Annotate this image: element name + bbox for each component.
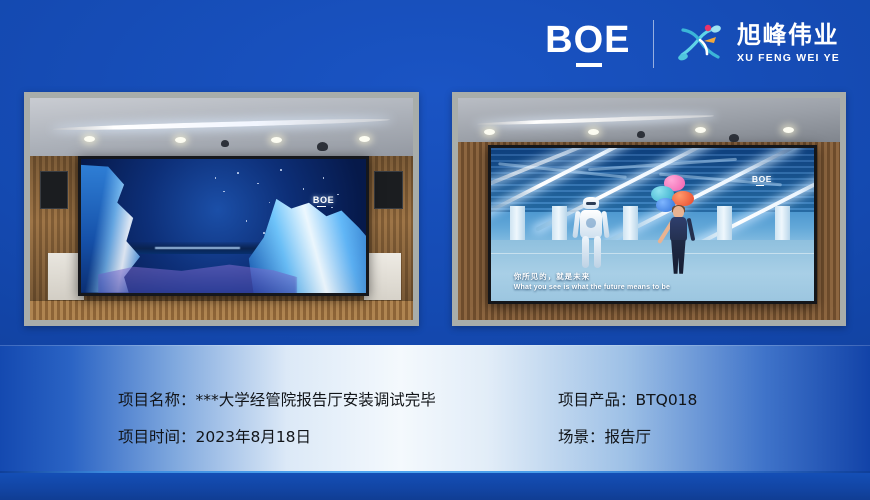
- screen-subtitle-en: What you see is what the future means to…: [514, 283, 814, 292]
- info-panel: 项目名称：***大学经管院报告厅安装调试完毕 项目产品：BTQ018 项目时间：…: [0, 345, 870, 471]
- xufeng-bird-icon: [674, 21, 726, 67]
- project-time-row: 项目时间：2023年8月18日: [118, 428, 558, 447]
- partner-logo: 旭峰伟业 XU FENG WEI YE: [674, 21, 840, 67]
- screen-girl-icon: [665, 206, 691, 274]
- spotlight-icon: [588, 129, 599, 135]
- vertical-divider-icon: [653, 20, 655, 68]
- wall-speaker-icon: [374, 171, 403, 209]
- poster-root: BOE 旭峰伟业 XU FENG WEI YE: [0, 0, 870, 500]
- scene-value: 报告厅: [605, 428, 652, 446]
- wall-speaker-icon: [40, 171, 69, 209]
- scene-label: 场景：: [558, 428, 605, 446]
- footer-strip: [0, 471, 870, 500]
- screen-pillar: [510, 206, 525, 240]
- screen-robot-icon: [575, 197, 607, 268]
- boe-wordmark-icon: BOE: [545, 21, 630, 59]
- spotlight-icon: [175, 137, 186, 143]
- project-product-row: 项目产品：BTQ018: [558, 391, 870, 410]
- screen-boe-watermark-icon: BOE: [313, 195, 334, 208]
- screen-subtitle: 你所见的，就是未来 What you see is what the futur…: [491, 268, 814, 296]
- led-screen-left: BOE: [78, 156, 369, 296]
- project-product-value: BTQ018: [636, 391, 698, 409]
- screen-pillar: [717, 206, 732, 240]
- spotlight-icon: [783, 127, 794, 133]
- screen-pillar: [775, 206, 790, 240]
- scene-row: 场景：报告厅: [558, 428, 870, 447]
- partner-logo-text: 旭峰伟业 XU FENG WEI YE: [737, 23, 840, 66]
- screen-pillar: [552, 206, 567, 240]
- ceiling-sensor-icon: [221, 140, 229, 147]
- auditorium-scene: BOE: [30, 98, 413, 320]
- screen-pillar: [623, 206, 638, 240]
- wall-skirting: [30, 300, 413, 320]
- spotlight-icon: [695, 127, 706, 133]
- boe-underline-icon: [576, 63, 602, 67]
- screen-warehouse: 你所见的，就是未来 What you see is what the futur…: [491, 148, 814, 302]
- auditorium-scene-2: 你所见的，就是未来 What you see is what the futur…: [458, 98, 841, 320]
- project-product-label: 项目产品：: [558, 391, 636, 409]
- project-name-value: ***大学经管院报告厅安装调试完毕: [196, 391, 436, 409]
- ceiling: [30, 98, 413, 165]
- spotlight-icon: [271, 137, 282, 143]
- partner-logo-en: XU FENG WEI YE: [737, 52, 840, 66]
- led-screen-right: 你所见的，就是未来 What you see is what the futur…: [488, 145, 817, 305]
- ceiling-camera-icon: [729, 134, 739, 142]
- project-name-row: 项目名称：***大学经管院报告厅安装调试完毕: [118, 391, 558, 410]
- ceiling-camera-icon: [317, 142, 328, 151]
- boe-logo: BOE: [545, 21, 630, 67]
- photo-row: BOE: [24, 92, 846, 326]
- screen-boe-watermark-icon: BOE: [752, 174, 772, 187]
- project-name-label: 项目名称：: [118, 391, 196, 409]
- info-grid: 项目名称：***大学经管院报告厅安装调试完毕 项目产品：BTQ018 项目时间：…: [0, 345, 870, 471]
- project-time-label: 项目时间：: [118, 428, 196, 446]
- spotlight-icon: [359, 136, 370, 142]
- photo-frame-right: 你所见的，就是未来 What you see is what the futur…: [452, 92, 847, 326]
- photo-left: BOE: [30, 98, 413, 320]
- photo-frame-left: BOE: [24, 92, 419, 326]
- spotlight-icon: [84, 136, 95, 142]
- partner-logo-cn: 旭峰伟业: [737, 23, 840, 49]
- logo-group: BOE 旭峰伟业 XU FENG WEI YE: [545, 16, 840, 72]
- photo-right: 你所见的，就是未来 What you see is what the futur…: [458, 98, 841, 320]
- project-time-value: 2023年8月18日: [196, 428, 312, 446]
- header-bar: BOE 旭峰伟业 XU FENG WEI YE: [0, 0, 870, 88]
- screen-subtitle-cn: 你所见的，就是未来: [514, 272, 814, 281]
